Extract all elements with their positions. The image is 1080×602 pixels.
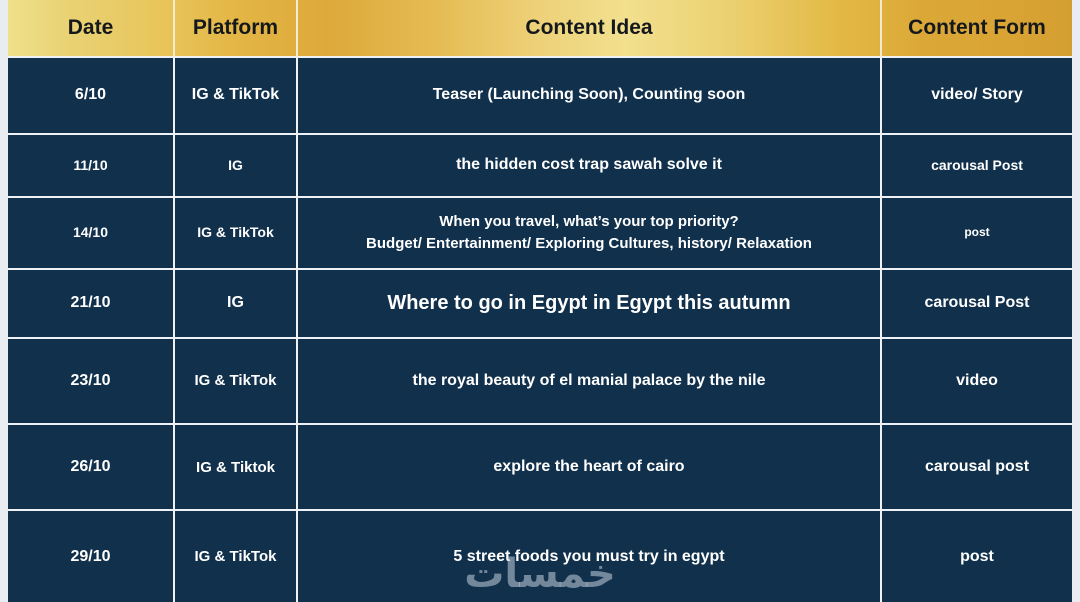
cell-content-form: video	[882, 339, 1072, 425]
content-idea-line: the royal beauty of el manial palace by …	[308, 371, 870, 391]
table-row: 29/10 IG & TikTok 5 street foods you mus…	[8, 511, 1072, 602]
cell-date: 21/10	[8, 270, 175, 338]
table-row: 23/10 IG & TikTok the royal beauty of el…	[8, 339, 1072, 425]
cell-content-form: video/ Story	[882, 58, 1072, 135]
table-row: 6/10 IG & TikTok Teaser (Launching Soon)…	[8, 58, 1072, 135]
cell-content-form: post	[882, 511, 1072, 602]
cell-date: 6/10	[8, 58, 175, 135]
cell-platform: IG & TikTok	[175, 339, 298, 425]
table-header: Date Platform Content Idea Content Form	[8, 0, 1072, 58]
cell-content-idea: explore the heart of cairo	[298, 425, 882, 511]
table-row: 21/10 IG Where to go in Egypt in Egypt t…	[8, 270, 1072, 338]
cell-content-idea: the royal beauty of el manial palace by …	[298, 339, 882, 425]
cell-content-idea: Teaser (Launching Soon), Counting soon	[298, 58, 882, 135]
cell-date: 23/10	[8, 339, 175, 425]
content-calendar-table: Date Platform Content Idea Content Form …	[8, 0, 1072, 602]
column-header-content-form[interactable]: Content Form	[882, 0, 1072, 58]
cell-date: 29/10	[8, 511, 175, 602]
content-idea-line: Teaser (Launching Soon), Counting soon	[308, 85, 870, 105]
content-idea-line: Where to go in Egypt in Egypt this autum…	[308, 291, 870, 317]
column-header-platform[interactable]: Platform	[175, 0, 298, 58]
content-idea-line: the hidden cost trap sawah solve it	[308, 155, 870, 175]
cell-platform: IG & TikTok	[175, 198, 298, 270]
content-idea-line: explore the heart of cairo	[308, 457, 870, 477]
column-header-content-idea[interactable]: Content Idea	[298, 0, 882, 58]
cell-content-idea: the hidden cost trap sawah solve it	[298, 135, 882, 197]
table-row: 11/10 IG the hidden cost trap sawah solv…	[8, 135, 1072, 197]
table-row: 14/10 IG & TikTok When you travel, what’…	[8, 198, 1072, 270]
cell-content-idea: 5 street foods you must try in egypt	[298, 511, 882, 602]
cell-content-idea: Where to go in Egypt in Egypt this autum…	[298, 270, 882, 338]
cell-content-idea: When you travel, what’s your top priorit…	[298, 198, 882, 270]
cell-platform: IG & TikTok	[175, 511, 298, 602]
cell-content-form: carousal post	[882, 425, 1072, 511]
cell-content-form: carousal Post	[882, 270, 1072, 338]
cell-platform: IG	[175, 270, 298, 338]
column-header-date[interactable]: Date	[8, 0, 175, 58]
cell-date: 14/10	[8, 198, 175, 270]
cell-content-form: post	[882, 198, 1072, 270]
cell-platform: IG	[175, 135, 298, 197]
cell-content-form: carousal Post	[882, 135, 1072, 197]
content-calendar-container: Date Platform Content Idea Content Form …	[0, 0, 1080, 602]
header-row: Date Platform Content Idea Content Form	[8, 0, 1072, 58]
cell-platform: IG & Tiktok	[175, 425, 298, 511]
cell-platform: IG & TikTok	[175, 58, 298, 135]
table-body: 6/10 IG & TikTok Teaser (Launching Soon)…	[8, 58, 1072, 602]
cell-date: 26/10	[8, 425, 175, 511]
content-idea-line: Budget/ Entertainment/ Exploring Culture…	[308, 234, 870, 253]
content-idea-line: 5 street foods you must try in egypt	[308, 547, 870, 567]
content-idea-line: When you travel, what’s your top priorit…	[308, 212, 870, 231]
table-row: 26/10 IG & Tiktok explore the heart of c…	[8, 425, 1072, 511]
cell-date: 11/10	[8, 135, 175, 197]
